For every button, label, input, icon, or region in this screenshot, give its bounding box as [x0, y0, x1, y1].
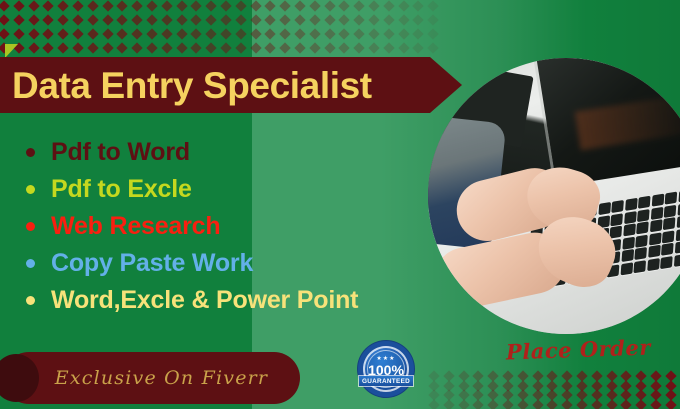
- service-label: Web Research: [51, 214, 220, 239]
- place-order-cta[interactable]: Place Order: [506, 334, 652, 364]
- exclusive-ribbon: Exclusive On Fiverr: [3, 352, 300, 404]
- laptop-typing-photo: [428, 58, 680, 334]
- service-list: Pdf to Word Pdf to Excle Web Research Co…: [26, 134, 456, 319]
- triangle-accent: [5, 44, 18, 58]
- list-item: Pdf to Excle: [26, 171, 456, 208]
- page-title: Data Entry Specialist: [12, 67, 372, 104]
- service-label: Copy Paste Work: [51, 251, 253, 276]
- service-label: Word,Excle & Power Point: [51, 288, 358, 313]
- stars-icon: ★★★: [376, 356, 395, 362]
- service-label: Pdf to Excle: [51, 177, 192, 202]
- badge-guaranteed-ribbon: GUARANTEED: [359, 376, 413, 386]
- service-label: Pdf to Word: [51, 140, 190, 165]
- bullet-dot-icon: [26, 259, 35, 268]
- badge-percent: 100%: [368, 363, 404, 377]
- title-banner: Data Entry Specialist: [0, 57, 462, 113]
- bullet-dot-icon: [26, 185, 35, 194]
- satisfaction-guarantee-badge: ★★★ 100% SATISFACTION GUARANTEED: [358, 341, 414, 397]
- gig-thumbnail-poster: Data Entry Specialist Pdf to Word Pdf to…: [0, 0, 680, 409]
- bullet-dot-icon: [26, 222, 35, 231]
- list-item: Pdf to Word: [26, 134, 456, 171]
- ribbon-label: Exclusive On Fiverr: [3, 352, 300, 404]
- list-item: Web Research: [26, 208, 456, 245]
- bullet-dot-icon: [26, 148, 35, 157]
- list-item: Word,Excle & Power Point: [26, 282, 456, 319]
- bullet-dot-icon: [26, 296, 35, 305]
- list-item: Copy Paste Work: [26, 245, 456, 282]
